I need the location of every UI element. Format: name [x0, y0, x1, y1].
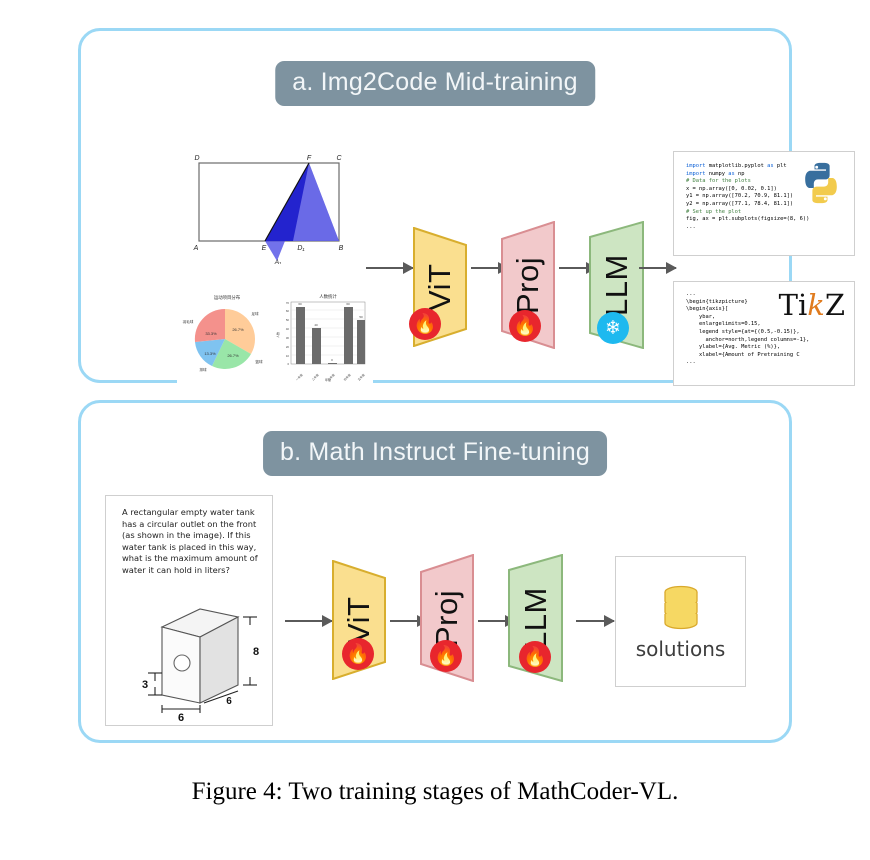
svg-text:13.3%: 13.3%	[204, 351, 216, 356]
svg-text:10: 10	[286, 354, 290, 358]
fire-icon-vit-b: 🔥	[342, 638, 374, 670]
svg-text:B: B	[339, 245, 344, 252]
math-problem-text: A rectangular empty water tank has a cir…	[122, 507, 262, 577]
svg-text:40: 40	[314, 323, 318, 327]
tank-diagram: 8 3 6 6	[112, 591, 268, 723]
snowflake-icon-llm-a: ❄	[597, 312, 629, 344]
svg-text:26.7%: 26.7%	[227, 353, 239, 358]
input-bar-chart: 人数统计 6040 06050 01020 304050 6070 一年级 二年…	[273, 287, 373, 383]
input-math-problem-card: A rectangular empty water tank has a cir…	[105, 495, 273, 726]
output-solutions-box: solutions	[615, 556, 746, 687]
svg-text:D: D	[194, 155, 199, 162]
arrow-input-to-vit-b	[285, 620, 332, 622]
svg-text:人数统计: 人数统计	[319, 293, 337, 300]
tikz-logo-icon: TikZ	[779, 288, 845, 322]
panel-b-title: b. Math Instruct Fine-tuning	[263, 431, 607, 476]
arrow-llm-to-output-a	[639, 267, 676, 269]
input-geometry-figure: D F C A E D₁ B A₁	[181, 149, 356, 264]
svg-text:33.3%: 33.3%	[205, 331, 217, 336]
svg-text:足球: 足球	[251, 311, 259, 316]
svg-text:20: 20	[286, 345, 290, 349]
svg-text:F: F	[307, 155, 312, 162]
svg-text:50: 50	[359, 315, 363, 319]
dim-height-label: 8	[253, 646, 259, 658]
svg-text:年级: 年级	[325, 377, 331, 382]
svg-text:30: 30	[286, 336, 290, 340]
input-pie-chart: 运动项目分布 26.7% 26.7% 13.3% 33.3% 足球 篮球 排球 …	[177, 287, 277, 383]
svg-text:排球: 排球	[199, 367, 207, 372]
svg-text:运动项目分布: 运动项目分布	[214, 294, 241, 301]
output-tikz-code: TikZ ... \begin{tikzpicture} \begin{axis…	[673, 281, 855, 386]
svg-text:26.7%: 26.7%	[232, 327, 244, 332]
svg-text:40: 40	[286, 327, 290, 331]
svg-text:羽毛球: 羽毛球	[183, 319, 194, 324]
svg-text:50: 50	[286, 318, 290, 322]
svg-text:A: A	[193, 245, 199, 252]
dim-outlet-height-label: 3	[142, 679, 148, 691]
panel-img2code-midtraining: a. Img2Code Mid-training D F C A E D₁ B …	[78, 28, 792, 383]
svg-text:60: 60	[298, 302, 302, 306]
svg-text:E: E	[262, 245, 267, 252]
figure-caption: Figure 4: Two training stages of MathCod…	[0, 778, 870, 806]
fire-icon-proj-a: 🔥	[509, 310, 541, 342]
svg-text:篮球: 篮球	[255, 359, 263, 364]
fire-icon-proj-b: 🔥	[430, 640, 462, 672]
output-python-code: import matplotlib.pyplot as plt import n…	[673, 151, 855, 256]
solutions-label: solutions	[636, 637, 726, 661]
svg-text:人数: 人数	[275, 332, 280, 338]
panel-a-title: a. Img2Code Mid-training	[275, 61, 595, 106]
python-logo-icon	[798, 160, 844, 206]
svg-text:60: 60	[286, 309, 290, 313]
svg-text:70: 70	[286, 301, 290, 305]
arrow-input-to-vit-a	[366, 267, 413, 269]
svg-text:D₁: D₁	[297, 245, 305, 252]
svg-text:60: 60	[346, 302, 350, 306]
dim-depth-label: 6	[226, 696, 232, 707]
fire-icon-vit-a: 🔥	[409, 308, 441, 340]
dim-width-label: 6	[178, 712, 184, 723]
database-icon	[658, 583, 704, 631]
fire-icon-llm-b: 🔥	[519, 641, 551, 673]
svg-text:C: C	[336, 155, 342, 162]
svg-text:A₁: A₁	[274, 259, 281, 264]
arrow-llm-to-solutions-b	[576, 620, 614, 622]
